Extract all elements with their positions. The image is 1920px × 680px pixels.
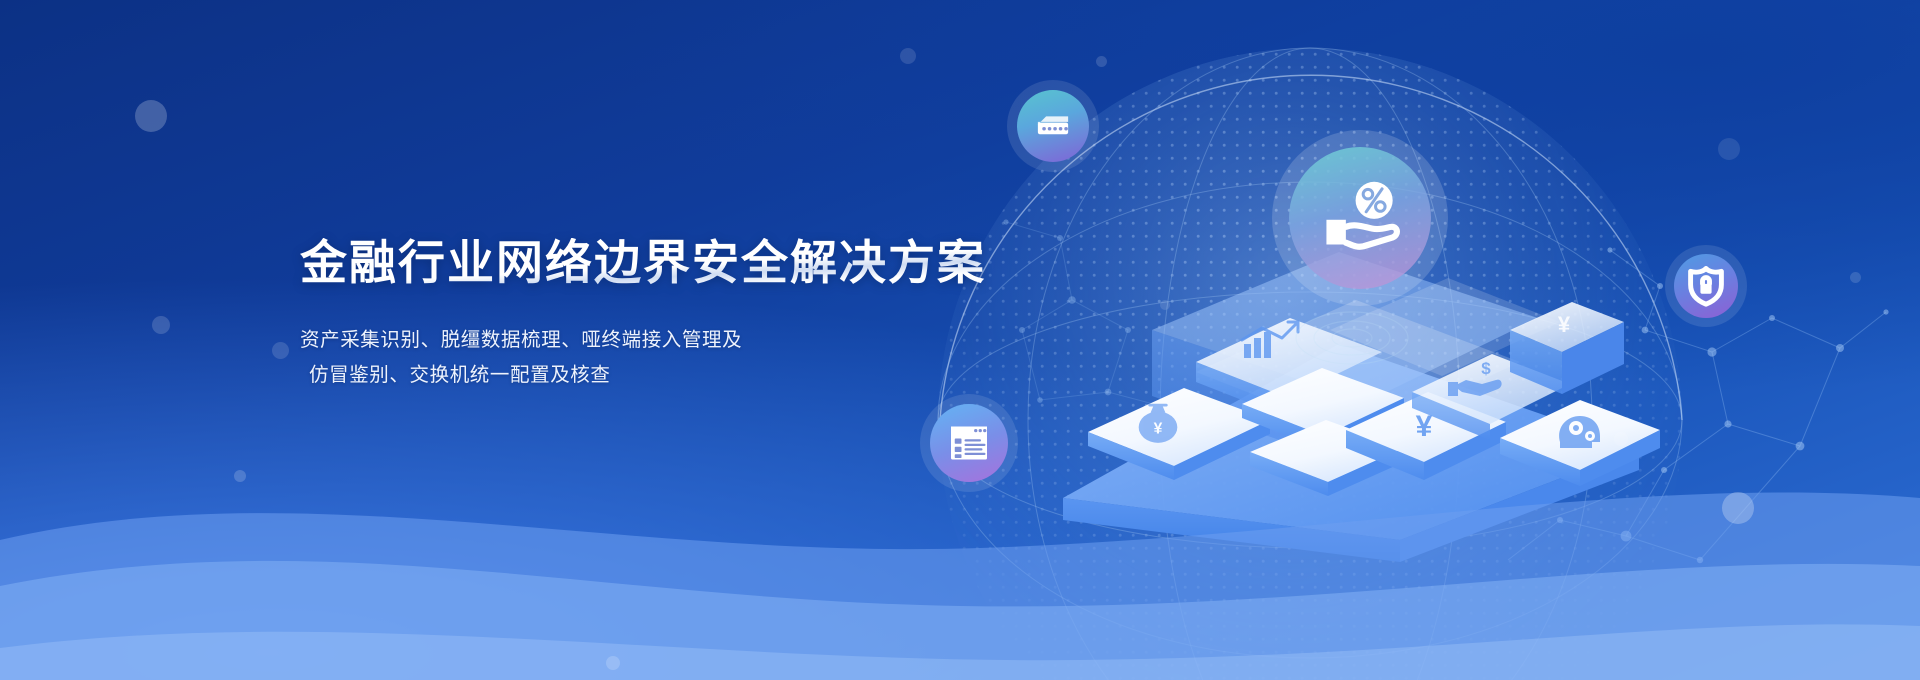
bokeh-dot — [900, 48, 916, 64]
bokeh-dot — [1160, 300, 1170, 310]
badge-document[interactable] — [920, 394, 1018, 492]
router-switch-icon — [1031, 104, 1075, 148]
badge-router[interactable] — [1007, 80, 1099, 172]
bokeh-dot — [234, 470, 246, 482]
bokeh-dot — [1614, 432, 1628, 446]
bokeh-dot — [1850, 272, 1861, 283]
badge-hand-percent[interactable] — [1272, 130, 1448, 306]
badge-shield-lock[interactable] — [1665, 245, 1747, 327]
hero-banner: ¥ — [0, 0, 1920, 680]
bokeh-dot — [1718, 138, 1740, 160]
subtitle-line-1: 资产采集识别、脱缰数据梳理、哑终端接入管理及 — [300, 329, 742, 351]
shield-lock-icon — [1686, 265, 1726, 307]
bokeh-dot — [152, 316, 170, 334]
hero-subtitle: 资产采集识别、脱缰数据梳理、哑终端接入管理及 仿冒鉴别、交换机统一配置及核查 — [300, 323, 1060, 393]
bokeh-dot — [1722, 492, 1754, 524]
hero-copy: 金融行业网络边界安全解决方案 资产采集识别、脱缰数据梳理、哑终端接入管理及 仿冒… — [300, 238, 1060, 393]
bokeh-dot — [606, 656, 620, 670]
bokeh-dot — [272, 342, 289, 359]
bokeh-dot — [135, 100, 167, 132]
document-list-icon — [945, 419, 993, 467]
hand-percent-icon — [1307, 165, 1413, 271]
subtitle-line-2: 仿冒鉴别、交换机统一配置及核查 — [300, 358, 1060, 393]
page-title: 金融行业网络边界安全解决方案 — [300, 238, 1060, 289]
bokeh-dot — [1096, 56, 1107, 67]
